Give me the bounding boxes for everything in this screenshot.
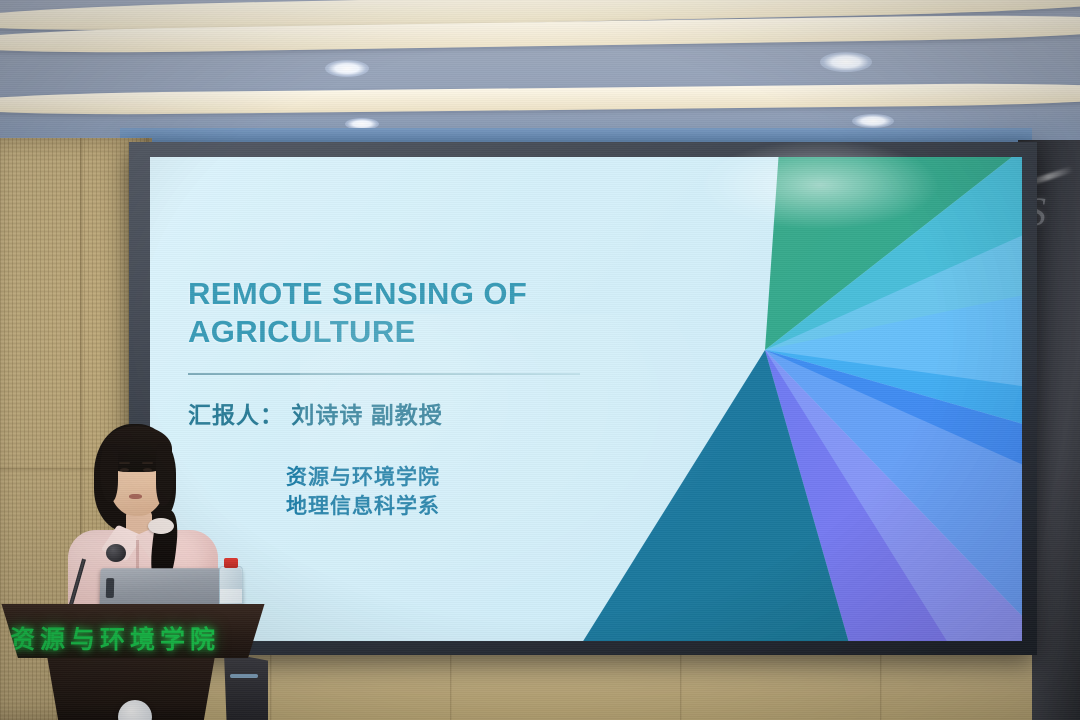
- wall-seam: [880, 648, 882, 720]
- slide-presenter-line: 汇报人： 刘诗诗 副教授: [188, 396, 608, 430]
- eye: [120, 468, 129, 472]
- eyebrow: [142, 462, 153, 464]
- wall-seam: [450, 648, 452, 720]
- hair-tie: [148, 518, 174, 534]
- slide-affiliation-line: 资源与环境学院: [286, 464, 608, 493]
- bottle-cap: [224, 558, 238, 568]
- laptop-screen-edge: [106, 578, 114, 598]
- ceiling-downlight-icon: [852, 114, 894, 128]
- projection-screen[interactable]: REMOTE SENSING OF AGRICULTURE 汇报人： 刘诗诗 副…: [150, 157, 1022, 641]
- hair-side: [100, 444, 118, 502]
- podium-indicator: [230, 674, 258, 678]
- microphone-icon: [106, 544, 126, 562]
- bottle-label: [220, 589, 242, 603]
- slide-affiliation-line: 地理信息科学系: [286, 493, 608, 522]
- slide-divider: [188, 373, 580, 375]
- slide-text-block: REMOTE SENSING OF AGRICULTURE 汇报人： 刘诗诗 副…: [188, 275, 608, 522]
- podium-side-panel: [224, 652, 268, 720]
- podium-led-sign-text: 资源与环境学院: [10, 620, 256, 656]
- slide-affiliation: 资源与环境学院 地理信息科学系: [286, 464, 608, 522]
- slide-title: REMOTE SENSING OF AGRICULTURE: [188, 275, 608, 351]
- wall-seam: [270, 648, 272, 720]
- ceiling-downlight-icon: [325, 60, 369, 77]
- wall-seam: [680, 648, 682, 720]
- podium-led-panel: 资源与环境学院: [0, 604, 270, 658]
- eye: [143, 468, 152, 472]
- lecture-hall-photo: S REMOTE SENSING OF AGRICULTURE 汇报人： 刘诗诗…: [0, 0, 1080, 720]
- ceiling-downlight-icon: [820, 52, 872, 72]
- eyebrow: [119, 462, 130, 464]
- mouth: [129, 494, 142, 499]
